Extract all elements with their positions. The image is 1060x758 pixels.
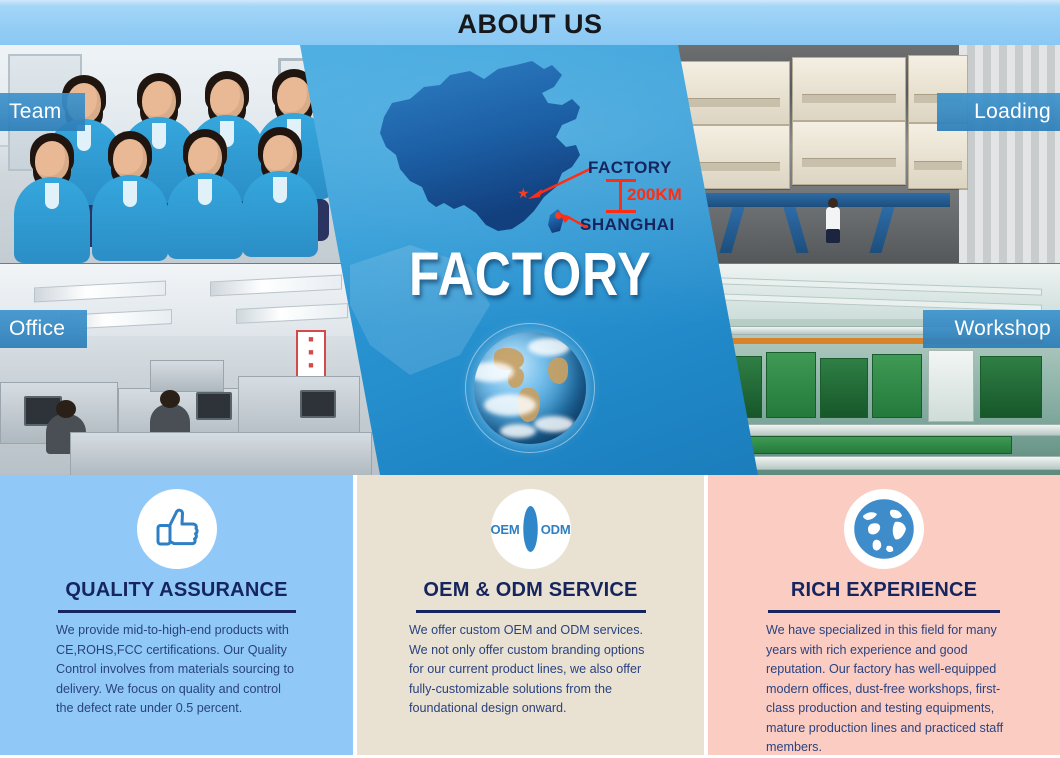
distance-label: 200KM (627, 185, 682, 205)
panel-title: OEM & ODM SERVICE (357, 579, 704, 602)
panel-body: We have specialized in this field for ma… (708, 621, 1060, 758)
workshop-machine (820, 358, 868, 418)
panel-rich-experience: RICH EXPERIENCE We have specialized in t… (708, 475, 1060, 755)
panel-title: QUALITY ASSURANCE (0, 579, 353, 602)
panel-body: We provide mid-to-high-end products with… (0, 621, 353, 719)
oem-odm-icon-badge: OEM ODM (491, 489, 571, 569)
feature-panels: QUALITY ASSURANCE We provide mid-to-high… (0, 475, 1060, 755)
office-monitor (196, 392, 232, 420)
globe-outer-ring (465, 323, 595, 453)
shipping-container (959, 45, 1060, 263)
page-title: ABOUT US (458, 7, 603, 38)
panel-divider (768, 610, 1000, 613)
thumbs-up-icon (152, 505, 202, 553)
factory-headline-text: FACTORY (409, 240, 651, 311)
panel-divider (416, 610, 646, 613)
globe-icon (851, 496, 917, 562)
odm-label: ODM (541, 522, 571, 537)
panel-divider (58, 610, 296, 613)
panel-oem-odm-service: OEM ODM OEM & ODM SERVICE We offer custo… (357, 475, 704, 755)
tag-team[interactable]: Team (0, 93, 85, 131)
tag-workshop[interactable]: Workshop (923, 310, 1060, 348)
workshop-machine (980, 356, 1042, 418)
tag-office-label: Office (9, 317, 65, 341)
workshop-machine (872, 354, 922, 418)
thumbs-up-icon-badge (137, 489, 217, 569)
scissor-lift (700, 193, 950, 207)
shanghai-label: SHANGHAI (580, 215, 675, 235)
panel-quality-assurance: QUALITY ASSURANCE We provide mid-to-high… (0, 475, 353, 755)
office-monitor (300, 390, 336, 418)
workshop-control-panel (928, 350, 974, 422)
page-header: ABOUT US (0, 0, 1060, 45)
globe-icon-badge (844, 489, 924, 569)
tag-loading-label: Loading (974, 100, 1051, 124)
oem-odm-lens-icon (523, 506, 538, 552)
workshop-machine (766, 352, 816, 418)
tag-team-label: Team (9, 100, 62, 124)
about-us-page: ABOUT US (0, 0, 1060, 755)
hero-collage: ■■■ (0, 45, 1060, 475)
factory-label: FACTORY (588, 158, 672, 178)
factory-arrow-icon (524, 163, 596, 203)
oem-label: OEM (491, 522, 520, 537)
loading-worker (826, 207, 840, 241)
panel-body: We offer custom OEM and ODM services. We… (357, 621, 704, 719)
tag-loading[interactable]: Loading (937, 93, 1060, 131)
tag-workshop-label: Workshop (954, 317, 1051, 341)
tag-office[interactable]: Office (0, 310, 87, 348)
globe-sphere (474, 332, 586, 444)
panel-title: RICH EXPERIENCE (708, 579, 1060, 602)
